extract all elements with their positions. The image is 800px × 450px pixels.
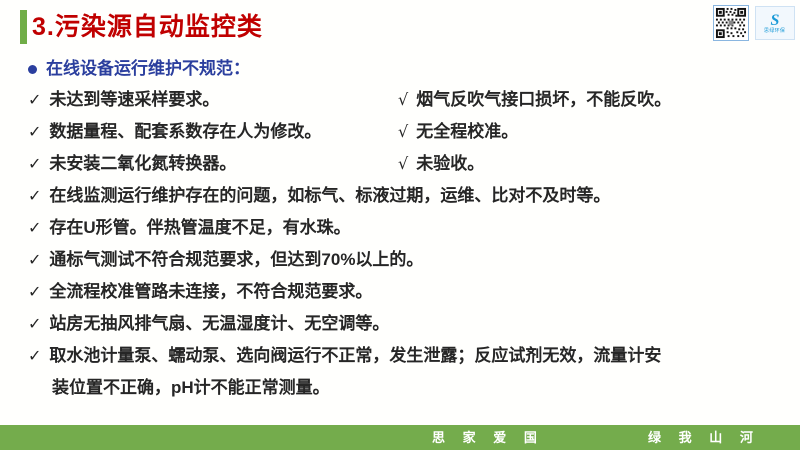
list-row-continuation: 装位置不正确，pH计不能正常测量。 bbox=[28, 376, 788, 408]
list-item-continuation-label: 装位置不正确，pH计不能正常测量。 bbox=[52, 376, 330, 400]
list-item-label: 数据量程、配套系数存在人为修改。 bbox=[49, 120, 321, 144]
list-item-label: 站房无抽风排气扇、无温湿度计、无空调等。 bbox=[49, 312, 389, 336]
list-item-label: 未达到等速采样要求。 bbox=[49, 88, 219, 112]
list-item: ✓ 站房无抽风排气扇、无温湿度计、无空调等。 bbox=[28, 312, 389, 336]
list-item: ✓ 数据量程、配套系数存在人为修改。 bbox=[28, 120, 321, 144]
list-row: ✓ 全流程校准管路未连接，不符合规范要求。 bbox=[28, 280, 788, 312]
list-item: √ 未验收。 bbox=[398, 152, 484, 176]
check-icon: √ bbox=[398, 152, 408, 176]
brand-name: 思绿环保 bbox=[764, 27, 785, 34]
brand-logo: S 思绿环保 bbox=[755, 6, 795, 40]
list-item: ✓ 全流程校准管路未连接，不符合规范要求。 bbox=[28, 280, 372, 304]
section-heading: 在线设备运行维护不规范： bbox=[28, 58, 250, 80]
list-item-label: 取水池计量泵、蠕动泵、选向阀运行不正常，发生泄露；反应试剂无效，流量计安 bbox=[49, 344, 661, 368]
list-item-label: 未验收。 bbox=[416, 152, 484, 176]
slide-header: 3.污染源自动监控类 bbox=[0, 0, 800, 52]
logo-block: S 思绿环保 bbox=[713, 5, 795, 41]
list-item-label: 通标气测试不符合规范要求，但达到70%以上的。 bbox=[49, 248, 423, 272]
qr-code-svg bbox=[715, 7, 747, 39]
section-heading-label: 在线设备运行维护不规范： bbox=[46, 58, 250, 80]
list-row: ✓ 存在U形管。伴热管温度不足，有水珠。 bbox=[28, 216, 788, 248]
check-icon: √ bbox=[398, 120, 408, 144]
list-item: ✓ 通标气测试不符合规范要求，但达到70%以上的。 bbox=[28, 248, 423, 272]
slide-body: 在线设备运行维护不规范： ✓ 未达到等速采样要求。 √ 烟气反吹气接口损坏，不能… bbox=[0, 52, 800, 422]
list-item-label: 未安装二氧化氮转换器。 bbox=[49, 152, 236, 176]
page-title: 3.污染源自动监控类 bbox=[32, 11, 263, 43]
check-icon: ✓ bbox=[28, 344, 41, 368]
footer-slogan-right: 绿 我 山 河 bbox=[648, 425, 760, 450]
list-row: ✓ 数据量程、配套系数存在人为修改。 √ 无全程校准。 bbox=[28, 120, 788, 152]
check-icon: ✓ bbox=[28, 88, 41, 112]
list-item: √ 无全程校准。 bbox=[398, 120, 518, 144]
list-item-label: 存在U形管。伴热管温度不足，有水珠。 bbox=[49, 216, 350, 240]
list-row: ✓ 在线监测运行维护存在的问题，如标气、标液过期，运维、比对不及时等。 bbox=[28, 184, 788, 216]
list-row: ✓ 未达到等速采样要求。 √ 烟气反吹气接口损坏，不能反吹。 bbox=[28, 88, 788, 120]
list-item: ✓ 在线监测运行维护存在的问题，如标气、标液过期，运维、比对不及时等。 bbox=[28, 184, 610, 208]
check-icon: ✓ bbox=[28, 216, 41, 240]
list-row: ✓ 站房无抽风排气扇、无温湿度计、无空调等。 bbox=[28, 312, 788, 344]
list-item: ✓ 存在U形管。伴热管温度不足，有水珠。 bbox=[28, 216, 351, 240]
slide-footer: 思 家 爱 国 绿 我 山 河 bbox=[0, 425, 800, 450]
slide: 3.污染源自动监控类 bbox=[0, 0, 800, 450]
check-icon: ✓ bbox=[28, 248, 41, 272]
qr-code-icon[interactable] bbox=[713, 5, 749, 41]
list-item: ✓ 取水池计量泵、蠕动泵、选向阀运行不正常，发生泄露；反应试剂无效，流量计安 bbox=[28, 344, 661, 368]
list-row: ✓ 取水池计量泵、蠕动泵、选向阀运行不正常，发生泄露；反应试剂无效，流量计安 bbox=[28, 344, 788, 376]
list-row: ✓ 通标气测试不符合规范要求，但达到70%以上的。 bbox=[28, 248, 788, 280]
list-item: ✓ 未达到等速采样要求。 bbox=[28, 88, 219, 112]
check-icon: ✓ bbox=[28, 120, 41, 144]
list-item-label: 烟气反吹气接口损坏，不能反吹。 bbox=[416, 88, 671, 112]
list-item-label: 全流程校准管路未连接，不符合规范要求。 bbox=[49, 280, 372, 304]
check-icon: ✓ bbox=[28, 184, 41, 208]
title-accent-bar bbox=[20, 10, 27, 44]
issue-list: ✓ 未达到等速采样要求。 √ 烟气反吹气接口损坏，不能反吹。 ✓ 数据量程、配套… bbox=[28, 88, 788, 408]
brand-mark: S bbox=[771, 13, 780, 28]
check-icon: ✓ bbox=[28, 312, 41, 336]
list-item: ✓ 未安装二氧化氮转换器。 bbox=[28, 152, 236, 176]
list-item-label: 在线监测运行维护存在的问题，如标气、标液过期，运维、比对不及时等。 bbox=[49, 184, 610, 208]
footer-slogan-left: 思 家 爱 国 bbox=[432, 425, 544, 450]
check-icon: ✓ bbox=[28, 152, 41, 176]
bullet-dot-icon bbox=[28, 65, 37, 74]
list-item: √ 烟气反吹气接口损坏，不能反吹。 bbox=[398, 88, 671, 112]
check-icon: ✓ bbox=[28, 280, 41, 304]
list-item-label: 无全程校准。 bbox=[416, 120, 518, 144]
list-row: ✓ 未安装二氧化氮转换器。 √ 未验收。 bbox=[28, 152, 788, 184]
check-icon: √ bbox=[398, 88, 408, 112]
